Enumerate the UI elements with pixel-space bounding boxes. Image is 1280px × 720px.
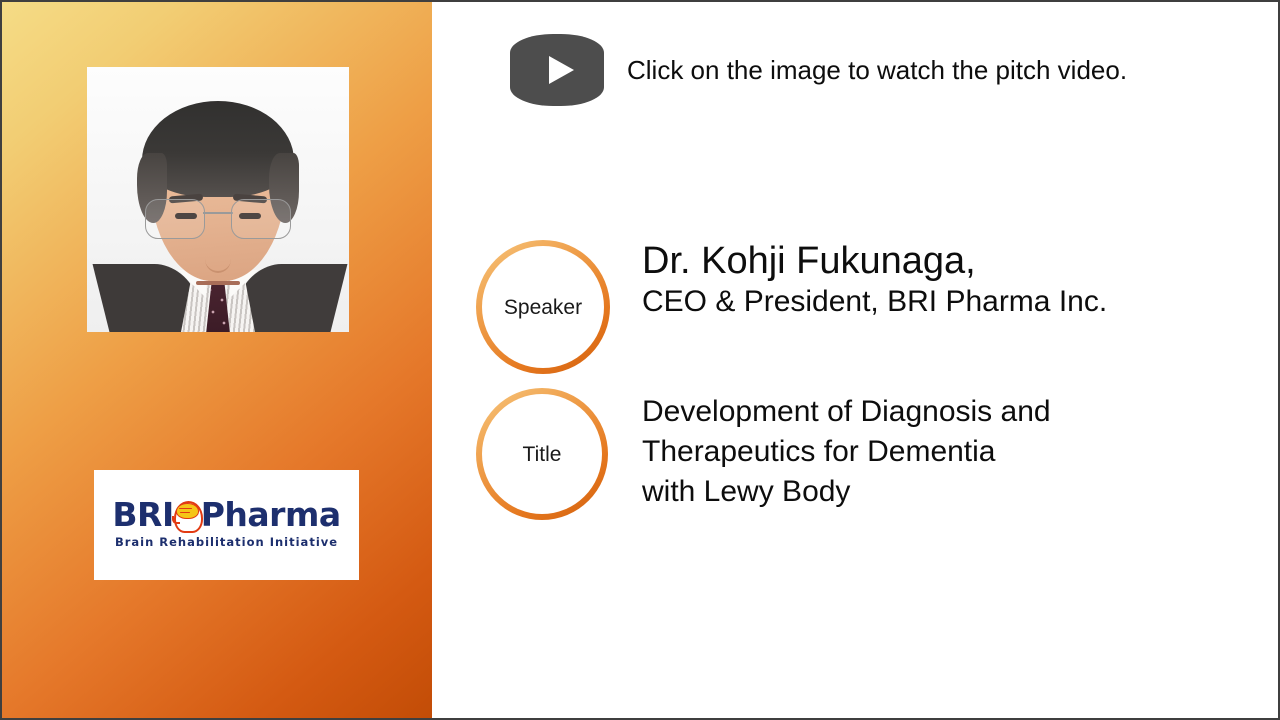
mouth: [196, 281, 240, 285]
speaker-badge-label: Speaker: [504, 297, 582, 318]
portrait-image: [87, 67, 349, 332]
play-button-icon[interactable]: [510, 34, 604, 106]
speaker-badge: Speaker: [476, 240, 610, 374]
title-line-2: Therapeutics for Dementia: [642, 432, 1051, 472]
right-content-panel: Click on the image to watch the pitch vi…: [432, 2, 1278, 718]
title-badge-label: Title: [523, 444, 562, 465]
glasses-bridge: [203, 212, 233, 214]
speaker-portrait-photo: [87, 67, 349, 332]
speaker-row: Speaker Dr. Kohji Fukunaga, CEO & Presid…: [476, 240, 1107, 374]
nose: [205, 245, 231, 273]
speaker-role: CEO & President, BRI Pharma Inc.: [642, 285, 1107, 320]
head-profile-nose: [172, 516, 180, 524]
lens-right: [231, 199, 291, 239]
brain-fold-2: [180, 512, 190, 513]
video-cta-row: Click on the image to watch the pitch vi…: [510, 34, 1127, 106]
left-gradient-panel: BRI Pharma Brain Rehabilitation Initiati…: [2, 2, 432, 720]
logo-content: BRI Pharma Brain Rehabilitation Initiati…: [94, 498, 359, 549]
brain-head-icon: [172, 499, 202, 531]
logo-tagline: Brain Rehabilitation Initiative: [94, 535, 359, 549]
speaker-name: Dr. Kohji Fukunaga,: [642, 240, 1107, 283]
eyeglasses: [141, 199, 295, 241]
bri-pharma-logo: BRI Pharma Brain Rehabilitation Initiati…: [94, 470, 359, 580]
lens-left: [145, 199, 205, 239]
title-row: Title Development of Diagnosis and Thera…: [476, 388, 1051, 520]
logo-word-pharma: Pharma: [201, 498, 341, 531]
title-line-3: with Lewy Body: [642, 472, 1051, 512]
brain-fold-1: [179, 508, 192, 509]
logo-word-bri: BRI: [112, 498, 173, 531]
play-triangle: [549, 56, 574, 84]
video-caption: Click on the image to watch the pitch vi…: [627, 55, 1127, 86]
title-details: Development of Diagnosis and Therapeutic…: [642, 392, 1051, 512]
speaker-details: Dr. Kohji Fukunaga, CEO & President, BRI…: [642, 240, 1107, 319]
logo-wordmark: BRI Pharma: [94, 498, 359, 531]
title-badge: Title: [476, 388, 608, 520]
slide-canvas: BRI Pharma Brain Rehabilitation Initiati…: [0, 0, 1280, 720]
title-line-1: Development of Diagnosis and: [642, 392, 1051, 432]
